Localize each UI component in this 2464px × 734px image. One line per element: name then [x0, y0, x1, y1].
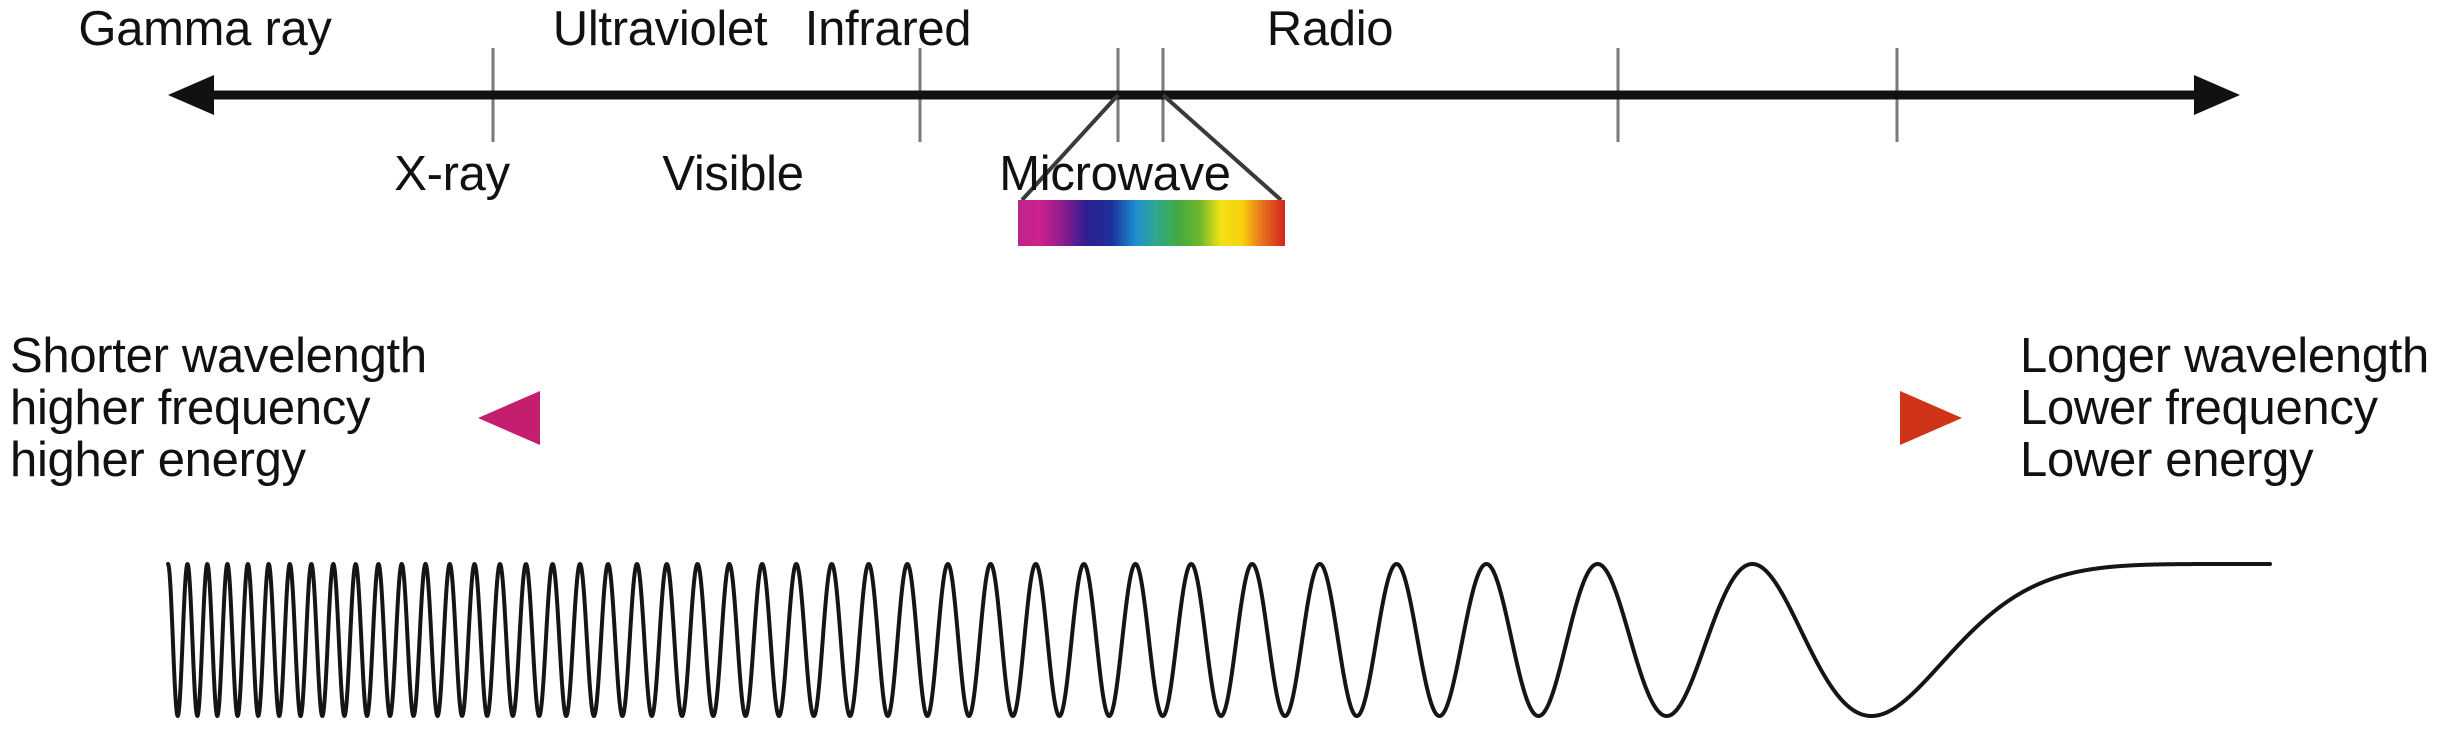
shorter-wavelength-line2: higher frequency	[10, 382, 427, 434]
band-label-gamma-ray: Gamma ray	[78, 5, 331, 54]
axis-left-arrowhead	[168, 75, 214, 115]
gradient-arrow-right-head	[1900, 391, 1962, 445]
band-label-microwave: Microwave	[999, 150, 1230, 199]
electromagnetic-spectrum-figure: Gamma rayUltravioletInfraredRadio X-rayV…	[0, 0, 2464, 734]
spectrum-axis-group	[168, 48, 2240, 142]
gradient-arrow-left-head	[478, 391, 540, 445]
frequency-waveform-path	[168, 564, 2270, 716]
axis-right-arrowhead	[2194, 75, 2240, 115]
wavelength-gradient-arrow-group	[478, 391, 1962, 445]
longer-wavelength-line2: Lower frequency	[2020, 382, 2429, 434]
longer-wavelength-line3: Lower energy	[2020, 434, 2429, 486]
band-label-radio: Radio	[1267, 5, 1394, 54]
band-label-infrared: Infrared	[805, 5, 971, 54]
shorter-wavelength-line1: Shorter wavelength	[10, 330, 427, 382]
visible-spectrum-bar	[1018, 200, 1285, 246]
shorter-wavelength-line3: higher energy	[10, 434, 427, 486]
longer-wavelength-line1: Longer wavelength	[2020, 330, 2429, 382]
band-label-visible: Visible	[662, 150, 803, 199]
shorter-wavelength-text-block: Shorter wavelength higher frequency high…	[10, 330, 427, 486]
longer-wavelength-text-block: Longer wavelength Lower frequency Lower …	[2020, 330, 2429, 486]
band-label-ultraviolet: Ultraviolet	[553, 5, 768, 54]
band-label-x-ray: X-ray	[394, 150, 510, 199]
